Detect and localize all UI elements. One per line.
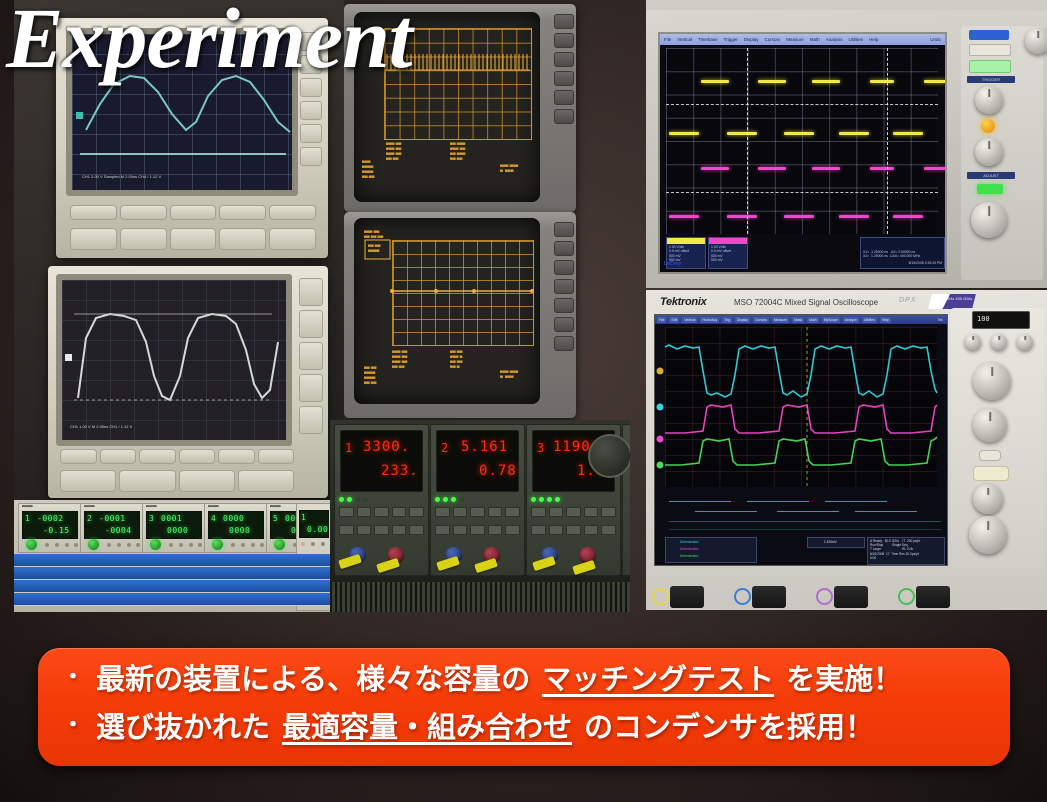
psu-key[interactable] — [435, 507, 450, 517]
waveform-pulse-magenta — [669, 215, 699, 218]
lecroy-brand-logo: LeCroy — [664, 262, 681, 266]
green-psu-key[interactable] — [117, 543, 121, 547]
psu-key[interactable] — [470, 507, 485, 517]
green-psu-key[interactable] — [55, 543, 59, 547]
tektronix-logo: Tektronix — [660, 296, 706, 308]
waveform-pulse-magenta — [870, 167, 894, 170]
green-psu-key[interactable] — [107, 543, 111, 547]
controller-key[interactable] — [301, 542, 305, 546]
trigger-status-led — [981, 119, 995, 133]
green-psu-key[interactable] — [127, 543, 131, 547]
green-psu-key[interactable] — [179, 543, 183, 547]
waveform-pulse-yellow — [924, 80, 946, 83]
waveform-magenta — [665, 405, 937, 433]
scope-bottom-button[interactable] — [170, 228, 217, 250]
controller-key[interactable] — [321, 542, 325, 546]
slide-root: CH1 2.00 V Sampled M 2.00ns CH4 / 1.12 V — [0, 0, 1047, 802]
green-psu-channel: 1 — [25, 514, 30, 523]
psu-key[interactable] — [505, 525, 520, 535]
green-psu-key[interactable] — [241, 543, 245, 547]
scope-bottom-button[interactable] — [139, 449, 176, 464]
channel-badge-c2[interactable]: 1.00 V/div 0.0 mV offset 500 mV 500 mV — [708, 237, 748, 269]
green-psu-controller-display: 1 0.00 — [299, 510, 329, 538]
green-psu-display: 3 0001 0000 — [146, 511, 202, 539]
psu-status-led — [435, 497, 440, 502]
probe-ring-1 — [652, 588, 669, 605]
menu-item-display[interactable]: Display — [744, 37, 759, 42]
cursors-button[interactable] — [973, 466, 1009, 481]
scope-bottom-button[interactable] — [218, 449, 255, 464]
measurement-badge-3: Deterministic — [680, 554, 698, 558]
psu-unit: 1 3300. 233. — [334, 424, 429, 576]
psu-key[interactable] — [392, 507, 407, 517]
frequency-counter-display: 100 — [972, 311, 1030, 329]
cursor-readout-panel: X1= -1.25000 ns ΔX= 2.50000 ns X2= 1.250… — [860, 237, 945, 269]
channel-marker-2 — [657, 404, 664, 411]
probe-ring-2 — [734, 588, 751, 605]
menu-item-trigger[interactable]: Trigger — [724, 37, 738, 42]
psu-key[interactable] — [584, 507, 599, 517]
crt2-readout-status: ▀▀▀ ▀▀▀ ▀ ▀▀▀ — [500, 370, 518, 380]
scope-bottom-button[interactable] — [258, 449, 295, 464]
vertical-position-knob[interactable] — [973, 484, 1003, 514]
lecroy-oscilloscope: File Vertical Timebase Trigger Display C… — [646, 0, 1047, 288]
probe-connector-2[interactable] — [752, 586, 786, 608]
psu-key[interactable] — [435, 525, 450, 535]
psu-status-led — [347, 497, 352, 502]
tektronix-screen[interactable]: File Edit Vertical Horiz/Acq Trig Displa… — [654, 314, 948, 566]
psu-status-led — [547, 497, 552, 502]
scope-side-button[interactable] — [300, 124, 322, 143]
psu-key[interactable] — [374, 507, 389, 517]
psu-rack-green: ▀▀▀▀▀ 1 -0002 -0.15 ▀▀▀▀▀ 2 -0001 -0004 — [14, 500, 330, 612]
green-psu-display: 1 -0002 -0.15 — [22, 511, 78, 539]
psu-key[interactable] — [357, 525, 372, 535]
callout-line-2-after: のコンデンサを採用！ — [584, 710, 874, 744]
green-psu-display: 2 -0001 -0004 — [84, 511, 140, 539]
bullet-icon: ・ — [62, 715, 84, 737]
scope-bottom-button[interactable] — [179, 449, 216, 464]
waveform-pulse-yellow — [701, 80, 729, 83]
tektronix-control-panel: 100 — [951, 308, 1044, 568]
waveform-cyan — [665, 345, 937, 397]
green-psu-model-label: ▀▀▀▀▀ — [270, 505, 281, 509]
crt-readout-left: ▀▀▀ ▀▀ ▀▀▀ ▀▀ ▀▀▀ ▀▀ ▀▀ ▀▀ — [386, 142, 401, 162]
green-psu-value-primary: -0002 — [37, 514, 64, 523]
trigger-level-knob[interactable] — [975, 86, 1003, 114]
green-psu-output-button[interactable] — [274, 539, 285, 550]
cable-clip[interactable] — [532, 556, 556, 571]
menu-item-help[interactable]: Help — [869, 37, 878, 42]
crt-side-button[interactable] — [554, 241, 574, 256]
psu-key[interactable] — [566, 507, 581, 517]
digital-channel-d1 — [777, 511, 839, 512]
psu-status-led — [539, 497, 544, 502]
channel-badge-c2-text: 1.00 V/div 0.0 mV offset 500 mV 500 mV — [711, 245, 731, 263]
psu-key[interactable] — [488, 525, 503, 535]
menu-item-math[interactable]: Math — [810, 37, 820, 42]
waveform-pulse-yellow — [727, 132, 757, 135]
waveform-pulse-magenta — [924, 167, 946, 170]
ground-reference-c2 — [666, 192, 938, 193]
psu-unit: 2 5.161 0.78 — [430, 424, 525, 576]
menu-item-measure[interactable]: Measure — [786, 37, 804, 42]
crt-side-button[interactable] — [554, 71, 574, 86]
probe-connector-3[interactable] — [834, 586, 868, 608]
green-psu-model-label: ▀▀▀▀▀ — [22, 505, 33, 509]
measurement-badge-1: Deterministic — [680, 540, 698, 544]
trigger-mode-knob[interactable] — [975, 138, 1003, 166]
callout-line-2-emphasis: 最適容量・組み合わせ — [282, 710, 572, 744]
psu-value-primary: 5.161 — [461, 439, 508, 455]
green-psu-value-secondary: 0000 — [229, 526, 250, 535]
waveform-pulse-yellow — [758, 80, 786, 83]
waveform-pulse-magenta — [701, 167, 729, 170]
lecroy-control-panel: TRIGGER ADJUST — [961, 26, 1043, 280]
psu-key[interactable] — [531, 525, 546, 535]
horizontal-scale-knob[interactable] — [965, 334, 981, 350]
callout-line-1-after: を実施！ — [786, 662, 902, 696]
controller-key[interactable] — [311, 542, 315, 546]
psu-key[interactable] — [357, 507, 372, 517]
green-psu-value-primary: 0000 — [223, 514, 244, 523]
tds-scope-clipped: CH1 1.00 V M 2.00ns CH1 / 1.12 V — [48, 266, 328, 498]
scope-crt-clipped: CH1 1.00 V M 2.00ns CH1 / 1.12 V — [62, 280, 286, 440]
crt-side-button[interactable] — [554, 279, 574, 294]
tektronix-mso-oscilloscope: Tektronix MSO 72004C Mixed Signal Oscill… — [646, 290, 1047, 610]
adjust-enable-led — [977, 184, 1003, 194]
scope-readout-sine: CH1 2.00 V Sampled M 2.00ns CH4 / 1.12 V — [82, 174, 161, 179]
dpx-label: DPX — [899, 297, 916, 304]
green-psu-value-secondary: -0.15 — [43, 526, 70, 535]
scope-side-button[interactable] — [300, 101, 322, 120]
crt-side-buttons[interactable] — [554, 14, 574, 124]
callout-line-2: ・ 選び抜かれた 最適容量・組み合わせ のコンデンサを採用！ — [62, 710, 990, 744]
ground-reference-c1 — [666, 104, 938, 105]
callout-box: ・ 最新の装置による、様々な容量の マッチングテスト を実施！ ・ 選び抜かれた… — [38, 648, 1010, 766]
green-psu-model-label: ▀▀▀▀▀ — [146, 505, 157, 509]
green-psu-key[interactable] — [169, 543, 173, 547]
crt-readout-status: ▀▀▀ ▀▀▀ ▀ ▀▀▀ — [500, 164, 518, 174]
scope-side-button[interactable] — [299, 278, 323, 306]
tektronix-model: MSO 72004C Mixed Signal Oscilloscope — [734, 298, 878, 307]
psu-rack-red: 1 3300. 233. 2 5.161 0.78 — [330, 420, 630, 612]
scope-bottom-button[interactable] — [60, 449, 97, 464]
scope-side-button[interactable] — [299, 310, 323, 338]
green-psu-channel: 5 — [273, 514, 278, 523]
scope-side-button[interactable] — [299, 342, 323, 370]
psu-key[interactable] — [488, 507, 503, 517]
green-psu-channel: 4 — [211, 514, 216, 523]
psu-key[interactable] — [549, 525, 564, 535]
crt2-readout-left: ▀▀▀ ▀▀ ▀▀▀ ▀▀ ▀▀▀ ▀▀ ▀▀ ▀▀ — [392, 350, 407, 370]
crt-readout-corner: ▀▀▀ ▀▀▀▀ ▀▀▀▀ ▀▀ ▀▀ — [362, 160, 374, 180]
psu-channel-number: 3 — [537, 441, 545, 455]
frequency-counter-value: 100 — [977, 315, 990, 323]
green-psu-output-button[interactable] — [26, 539, 37, 550]
channel-marker-1 — [657, 368, 664, 375]
green-psu-unit: ▀▀▀▀▀ 3 0001 0000 — [142, 503, 206, 553]
green-psu-key[interactable] — [65, 543, 69, 547]
green-psu-key[interactable] — [189, 543, 193, 547]
cable-clip[interactable] — [474, 558, 498, 573]
scope-readout-clipped: CH1 1.00 V M 2.00ns CH1 / 1.12 V — [70, 424, 132, 429]
scope-bottom-button[interactable] — [238, 470, 294, 492]
psu-key[interactable] — [470, 525, 485, 535]
channel-marker-3 — [657, 436, 664, 443]
digital-channel-d0 — [747, 501, 809, 502]
callout-line-2-before: 選び抜かれた — [96, 710, 270, 744]
cable-clip[interactable] — [338, 554, 362, 569]
heatsink-fins — [330, 582, 630, 612]
green-psu-output-button[interactable] — [88, 539, 99, 550]
psu-key[interactable] — [374, 525, 389, 535]
crt2-side-buttons[interactable] — [554, 222, 574, 351]
green-psu-channel: 2 — [87, 514, 92, 523]
psu-value-secondary: 233. — [381, 463, 419, 479]
green-psu-key[interactable] — [198, 543, 202, 547]
scope-bottom-button[interactable] — [269, 205, 316, 220]
tektronix-waveforms — [655, 315, 947, 565]
green-psu-key[interactable] — [74, 543, 78, 547]
psu-status-led — [459, 497, 464, 502]
scope-bottom-button[interactable] — [120, 205, 167, 220]
fine-button[interactable] — [979, 450, 1001, 461]
psu-value-primary: 3300. — [363, 439, 410, 455]
scope-side-button[interactable] — [299, 406, 323, 434]
cursor-readout-text: X1= -1.25000 ns ΔX= 2.50000 ns X2= 1.250… — [863, 250, 920, 259]
menu-item-timebase[interactable]: Timebase — [698, 37, 718, 42]
crt-side-button[interactable] — [554, 33, 574, 48]
psu-key[interactable] — [409, 525, 424, 535]
psu-key[interactable] — [505, 507, 520, 517]
psu-display: 1 3300. 233. — [340, 430, 423, 492]
crt-readout-right: ▀▀ ▀▀▀ ▀▀▀ ▀▀ ▀▀ ▀▀▀ ▀▀ ▀▀ — [450, 142, 465, 162]
cursor-timestamp: 8/15/2008 2:39:25 PM — [909, 261, 942, 265]
scope-bottom-button[interactable] — [70, 228, 117, 250]
psu-key[interactable] — [601, 507, 616, 517]
psu-key[interactable] — [531, 507, 546, 517]
psu-key[interactable] — [453, 525, 468, 535]
crt-side-button[interactable] — [554, 52, 574, 67]
waveform-green — [665, 437, 937, 465]
bandwidth-badge: 20 GHz 100 GS/s — [928, 294, 976, 309]
green-psu-key[interactable] — [251, 543, 255, 547]
psu-key[interactable] — [549, 507, 564, 517]
channel-badge-c2-header — [709, 238, 747, 244]
waveform-pulse-yellow — [893, 132, 923, 135]
menu-item-analysis[interactable]: Analysis — [826, 37, 843, 42]
crt-side-button[interactable] — [554, 90, 574, 105]
cursor-x2[interactable] — [887, 48, 888, 234]
trigger-status-panel: A Ready 50.0 GS/s IT 200 ps/pt Run/Stop … — [867, 537, 945, 565]
channel-marker-4 — [657, 462, 664, 469]
multipurpose-knob-a[interactable] — [973, 362, 1011, 400]
panel-button-white[interactable] — [969, 44, 1011, 56]
psu-key[interactable] — [409, 507, 424, 517]
cable-clip[interactable] — [436, 556, 460, 571]
cursor-x1[interactable] — [747, 48, 748, 234]
psu-status-led — [555, 497, 560, 502]
green-psu-model-label: ▀▀▀▀▀ — [84, 505, 95, 509]
menu-item-undo[interactable]: Undo — [930, 37, 941, 42]
psu-key[interactable] — [566, 525, 581, 535]
multipurpose-knob-b[interactable] — [973, 408, 1007, 442]
psu-channel-number: 1 — [345, 441, 353, 455]
green-psu-unit: ▀▀▀▀▀ 1 -0002 -0.15 — [18, 503, 82, 553]
scope-bottom-button[interactable] — [120, 228, 167, 250]
channel-badge-c1-text: 1.00 V/div 0.0 mV offset 500 mV 500 mV — [669, 245, 689, 263]
menu-item-vertical[interactable]: Vertical — [677, 37, 692, 42]
panel-button-blue[interactable] — [969, 30, 1009, 40]
scope-bottom-button[interactable] — [269, 228, 316, 250]
crt-side-button[interactable] — [554, 109, 574, 124]
scope-bottom-button[interactable] — [70, 205, 117, 220]
panel-section-trigger: TRIGGER — [967, 76, 1015, 83]
callout-line-1: ・ 最新の装置による、様々な容量の マッチングテスト を実施！ — [62, 662, 990, 696]
psu-status-led — [339, 497, 344, 502]
psu-rotary-dial[interactable] — [588, 434, 630, 478]
crt-side-button[interactable] — [554, 222, 574, 237]
page-title: Experiment — [6, 0, 412, 88]
green-psu-channel: 3 — [149, 514, 154, 523]
offset-readout-text: 1 420mV — [824, 540, 837, 544]
callout-line-1-before: 最新の装置による、様々な容量の — [96, 662, 530, 696]
waveform-pulse-yellow — [669, 132, 699, 135]
green-psu-key[interactable] — [45, 543, 49, 547]
green-psu-unit: ▀▀▀▀▀ 2 -0001 -0004 — [80, 503, 144, 553]
psu-status-led — [363, 497, 368, 502]
psu-value-secondary: 0.78 — [479, 463, 517, 479]
psu-key[interactable] — [453, 507, 468, 517]
probe-connector-4[interactable] — [916, 586, 950, 608]
horizontal-position-knob[interactable] — [1025, 28, 1047, 54]
psu-module-band — [14, 554, 330, 567]
vertical-scale-knob[interactable] — [991, 334, 1007, 350]
crt-side-button[interactable] — [554, 298, 574, 313]
panel-button-green[interactable] — [969, 60, 1011, 73]
channel-badge-c1-header — [667, 238, 705, 244]
horizontal-position-knob[interactable] — [1017, 334, 1033, 350]
psu-key[interactable] — [601, 525, 616, 535]
psu-module-band — [14, 593, 330, 606]
digital-channel-d0 — [825, 501, 887, 502]
bullet-icon: ・ — [62, 667, 84, 689]
lecroy-graticule — [666, 48, 938, 234]
green-psu-value-secondary: -0004 — [105, 526, 132, 535]
vertical-scale-main-knob[interactable] — [969, 516, 1007, 554]
probe-connector-1[interactable] — [670, 586, 704, 608]
crt2-readout-top: ▀▀▀ ▀▀ ▀▀ ▀▀ ▀▀ — [364, 230, 383, 240]
green-psu-model-label: ▀▀▀▀▀ — [208, 505, 219, 509]
menu-item-utilities[interactable]: Utilities — [849, 37, 864, 42]
digital-channel-d0 — [669, 501, 731, 502]
digital-channel-d3 — [669, 529, 941, 530]
panel-section-adjust: ADJUST — [967, 172, 1015, 179]
measurement-badge-panel[interactable]: Deterministic Deterministic Deterministi… — [665, 537, 757, 563]
waveform-pulse-magenta — [727, 215, 757, 218]
green-psu-value-primary: -0001 — [99, 514, 126, 523]
waveform-pulse-magenta — [784, 215, 814, 218]
waveform-pulse-magenta — [758, 167, 786, 170]
waveform-pulse-magenta — [839, 215, 869, 218]
green-psu-output-button[interactable] — [212, 539, 223, 550]
psu-channel-number: 2 — [441, 441, 449, 455]
crt2-readout-corner: ▀▀ ▀▀ ▀▀▀▀ ▀▀▀▀ ▀▀ ▀▀ — [364, 366, 376, 386]
crt-side-button[interactable] — [554, 336, 574, 351]
waveform-pulse-yellow — [839, 132, 869, 135]
scope-bottom-button[interactable] — [60, 470, 116, 492]
scope-bottom-button[interactable] — [219, 205, 266, 220]
crt-side-button[interactable] — [554, 260, 574, 275]
psu-key[interactable] — [339, 507, 354, 517]
waveform-pulse-yellow — [784, 132, 814, 135]
crt2-readout-box: ▀▀ ▀▀ ▀▀▀▀ — [368, 244, 380, 254]
green-psu-value-secondary: 0000 — [167, 526, 188, 535]
digital-channel-d1 — [695, 511, 757, 512]
callout-line-1-emphasis: マッチングテスト — [542, 662, 774, 696]
offset-readout-badge[interactable]: 1 420mV — [807, 537, 865, 548]
adjust-knob[interactable] — [971, 202, 1007, 238]
green-psu-output-button[interactable] — [150, 539, 161, 550]
scope-side-button[interactable] — [300, 147, 322, 166]
psu-module-band — [14, 580, 330, 593]
green-psu-controller-channel: 1 — [301, 513, 306, 522]
green-psu-key[interactable] — [136, 543, 140, 547]
scope-bottom-button[interactable] — [170, 205, 217, 220]
bandwidth-badge-text: 20 GHz 100 GS/s — [940, 296, 971, 301]
scope-bottom-button[interactable] — [219, 228, 266, 250]
psu-status-led — [531, 497, 536, 502]
green-psu-display: 4 0000 0000 — [208, 511, 264, 539]
trigger-status-text: A Ready 50.0 GS/s IT 200 ps/pt Run/Stop … — [870, 539, 920, 560]
green-psu-key[interactable] — [231, 543, 235, 547]
green-psu-key[interactable] — [260, 543, 264, 547]
crt-side-button[interactable] — [554, 14, 574, 29]
psu-key[interactable] — [584, 525, 599, 535]
cable-clip[interactable] — [572, 560, 596, 575]
scope-bottom-button[interactable] — [179, 470, 235, 492]
psu-status-led — [355, 497, 360, 502]
digital-channel-d1 — [855, 511, 917, 512]
crt2-readout-right: ▀▀ ▀▀ ▀▀▀ ▀ ▀▀ ▀▀ ▀▀ ▀ — [450, 350, 462, 370]
waveform-pulse-magenta — [893, 215, 923, 218]
menu-item-file[interactable]: File — [664, 37, 671, 42]
psu-key[interactable] — [392, 525, 407, 535]
psu-status-led — [443, 497, 448, 502]
amber-crt-flat: ▀▀▀ ▀▀ ▀▀ ▀▀ ▀▀ ▀▀ ▀▀ ▀▀▀▀ ▀▀▀ ▀▀ ▀▀▀ ▀▀… — [344, 212, 576, 418]
psu-status-led — [451, 497, 456, 502]
probe-ring-4 — [898, 588, 915, 605]
green-psu-controller-value: 0.00 — [307, 525, 328, 534]
lecroy-menubar[interactable]: File Vertical Timebase Trigger Display C… — [660, 34, 945, 45]
scope-bottom-button[interactable] — [119, 470, 175, 492]
cable-clip[interactable] — [376, 558, 400, 573]
psu-module-band — [14, 567, 330, 580]
menu-item-cursors[interactable]: Cursors — [764, 37, 780, 42]
waveform-pulse-yellow — [870, 80, 894, 83]
measurement-badge-2: Deterministic — [680, 547, 698, 551]
scope-bottom-button[interactable] — [100, 449, 137, 464]
lecroy-screen[interactable]: File Vertical Timebase Trigger Display C… — [658, 32, 947, 274]
waveform-pulse-yellow — [812, 80, 840, 83]
green-psu-value-primary: 0001 — [161, 514, 182, 523]
crt-side-button[interactable] — [554, 317, 574, 332]
scope-side-button[interactable] — [299, 374, 323, 402]
psu-display: 2 5.161 0.78 — [436, 430, 519, 492]
psu-key[interactable] — [339, 525, 354, 535]
probe-ring-3 — [816, 588, 833, 605]
